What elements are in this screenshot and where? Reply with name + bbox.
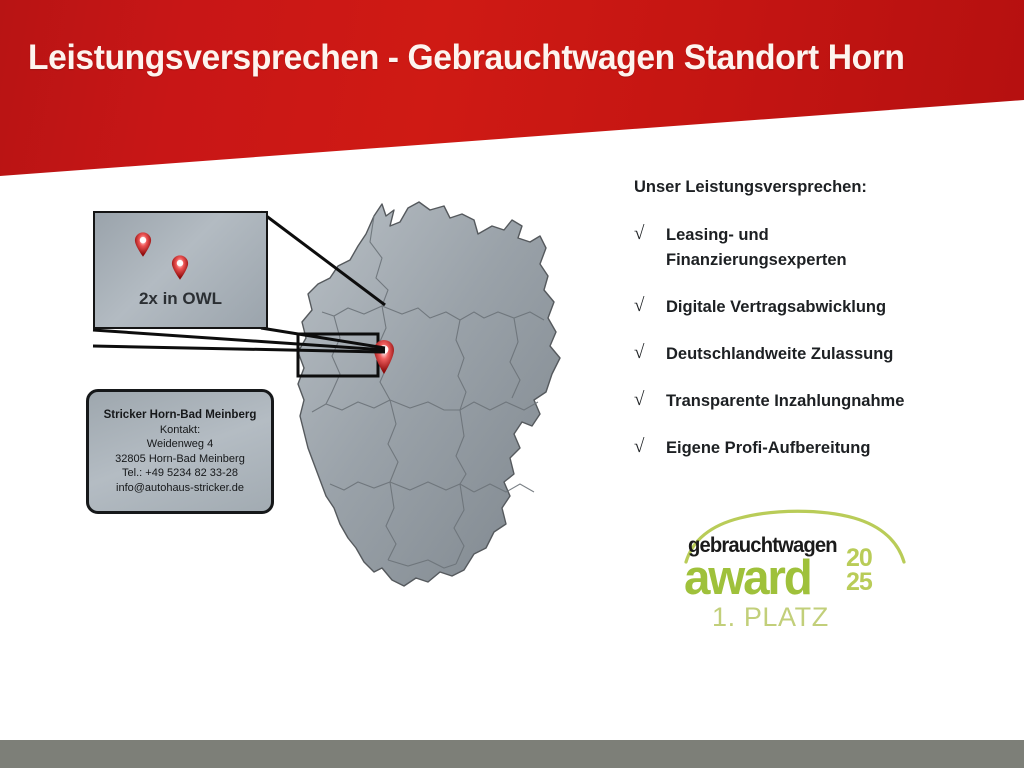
award-logo: gebrauchtwagen award 20 25 1. PLATZ [676, 508, 916, 636]
contact-street: Weidenweg 4 [147, 437, 213, 452]
award-year-top: 20 [846, 546, 872, 570]
promise-item-label: Eigene Profi-Aufbereitung [666, 436, 870, 461]
promise-item-label: Digitale Vertragsabwicklung [666, 295, 886, 320]
page-title: Leistungsversprechen - Gebrauchtwagen St… [28, 38, 905, 78]
promise-item-label-line2: Finanzierungsexperten [666, 248, 847, 273]
award-rank: 1. PLATZ [712, 602, 829, 633]
map-pin-icon [171, 255, 189, 281]
promise-item: √ Eigene Profi-Aufbereitung [634, 436, 1004, 461]
check-icon: √ [634, 389, 666, 410]
promise-item-label: Deutschlandweite Zulassung [666, 342, 893, 367]
header-band [0, 0, 1024, 180]
promise-item: √ Digitale Vertragsabwicklung [634, 295, 1004, 320]
award-main-word: award [684, 550, 811, 606]
promise-item-label: Transparente Inzahlungnahme [666, 389, 904, 414]
promise-item: √ Deutschlandweite Zulassung [634, 342, 1004, 367]
owl-inset-label: 2x in OWL [95, 289, 266, 309]
check-icon: √ [634, 223, 666, 244]
promise-item-label: Leasing- und [666, 223, 847, 248]
contact-phone: Tel.: +49 5234 82 33-28 [122, 466, 238, 481]
check-icon: √ [634, 295, 666, 316]
brand-logo-bar: Horn Nutzfahrzeuge Service ŠKODA Service [0, 648, 1024, 740]
contact-email: info@autohaus-stricker.de [116, 481, 244, 496]
contact-kontakt-label: Kontakt: [160, 423, 200, 438]
contact-box: Stricker Horn-Bad Meinberg Kontakt: Weid… [86, 389, 274, 514]
promise-item: √ Leasing- und Finanzierungsexperten [634, 223, 1004, 273]
award-year-bottom: 25 [846, 570, 872, 594]
check-icon: √ [634, 342, 666, 363]
footer-bar [0, 740, 1024, 768]
owl-inset-box: 2x in OWL [93, 211, 268, 329]
promise-list: Unser Leistungsversprechen: √ Leasing- u… [634, 178, 1004, 483]
contact-city: 32805 Horn-Bad Meinberg [115, 452, 245, 467]
contact-name: Stricker Horn-Bad Meinberg [104, 408, 257, 423]
award-year: 20 25 [846, 546, 872, 594]
map-pin-icon [134, 232, 152, 258]
germany-map [278, 186, 578, 636]
promise-item: √ Transparente Inzahlungnahme [634, 389, 1004, 414]
check-icon: √ [634, 436, 666, 457]
slide-canvas: Leistungsversprechen - Gebrauchtwagen St… [0, 0, 1024, 768]
promise-heading: Unser Leistungsversprechen: [634, 178, 1004, 197]
